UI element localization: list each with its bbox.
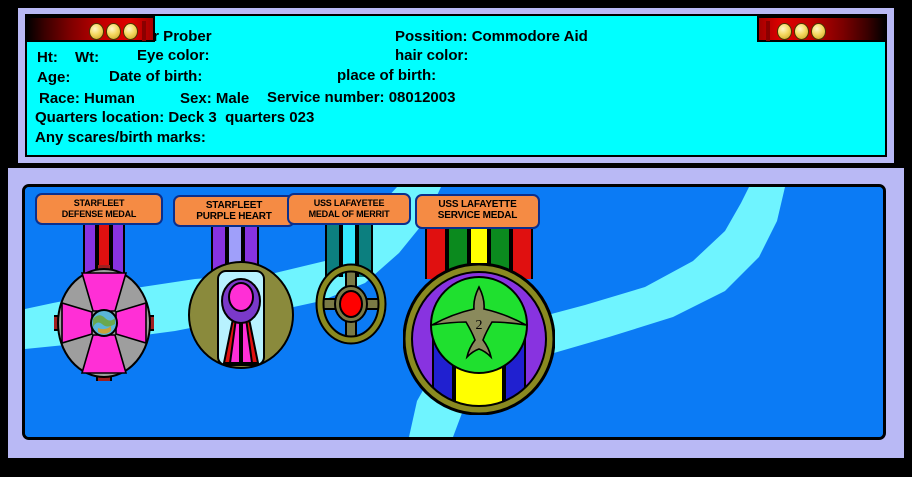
field-label: Possition: (395, 28, 468, 45)
medal-oval-inner (229, 283, 253, 311)
field-value: Human (84, 90, 135, 107)
field-value: Deck 3 quarters 023 (168, 109, 314, 126)
field-ht: Ht: (37, 49, 58, 66)
medal-label-line1: STARFLEET (182, 200, 286, 211)
lamp-icon (123, 23, 138, 40)
medal-label-line2: DEFENSE MEDAL (44, 209, 154, 220)
lamp-icon (794, 23, 809, 40)
field-date-of-birth: Date of birth: (109, 68, 202, 85)
record-screen: Name: Alexander ProberPossition: Commodo… (0, 0, 912, 477)
medal-label-line1: USS LAFAYETTE (424, 199, 531, 210)
field-wt: Wt: (75, 49, 99, 66)
field-service-number: Service number: 08012003 (267, 89, 455, 106)
field-label: Eye color: (137, 47, 210, 64)
field-value: Male (216, 90, 249, 107)
field-label: Quarters location: (35, 109, 164, 126)
lamp-icon (89, 23, 104, 40)
field-hair-color: hair color: (395, 47, 468, 64)
field-sex: Sex: Male (180, 90, 249, 107)
medal-disc-starfleet-defense-medal[interactable] (54, 265, 154, 381)
field-label: Race: (39, 90, 80, 107)
field-label: Wt: (75, 49, 99, 66)
medal-ray-split (239, 321, 243, 363)
field-age: Age: (37, 69, 70, 86)
field-possition: Possition: Commodore Aid (395, 28, 588, 45)
field-label: Date of birth: (109, 68, 202, 85)
medal-inner-art: 2 (431, 277, 527, 415)
medal-label-line2: MEDAL OF MERRIT (296, 209, 402, 220)
medal-label-starfleet-purple-heart[interactable]: STARFLEETPURPLE HEART (173, 195, 295, 227)
medal-label-line2: PURPLE HEART (182, 211, 286, 222)
medal-label-line2: SERVICE MEDAL (424, 210, 531, 221)
lamp-icon (106, 23, 121, 40)
medals-panel: STARFLEETDEFENSE MEDALSTARFLEETPURPLE HE… (22, 184, 886, 440)
field-race: Race: Human (39, 90, 135, 107)
decor-tick-right (766, 21, 770, 41)
medal-disc-uss-lafayetee-medal-of-merrit[interactable] (315, 263, 387, 345)
field-label: Sex: (180, 90, 212, 107)
field-any-scares-birth-marks: Any scares/birth marks: (35, 129, 206, 146)
field-label: Service number: (267, 89, 385, 106)
field-value: 08012003 (389, 89, 456, 106)
header-decor-left (25, 16, 155, 42)
medal-disc-starfleet-purple-heart[interactable] (186, 259, 296, 371)
field-eye-color: Eye color: (137, 47, 210, 64)
medal-label-line1: STARFLEET (44, 198, 154, 209)
field-label: Ht: (37, 49, 58, 66)
medal-label-uss-lafayetee-medal-of-merrit[interactable]: USS LAFAYETEEMEDAL OF MERRIT (287, 193, 411, 225)
field-label: hair color: (395, 47, 468, 64)
field-place-of-birth: place of birth: (337, 67, 436, 84)
medal-label-uss-lafayette-service-medal[interactable]: USS LAFAYETTESERVICE MEDAL (415, 194, 540, 229)
lamp-icon (777, 23, 792, 40)
field-label: Any scares/birth marks: (35, 129, 206, 146)
field-label: place of birth: (337, 67, 436, 84)
header-decor-right (757, 16, 887, 42)
medal-label-line1: USS LAFAYETEE (296, 198, 402, 209)
decor-tick-left (142, 21, 146, 41)
eagle-number: 2 (476, 318, 483, 333)
field-value: Commodore Aid (472, 28, 588, 45)
medal-disc-uss-lafayette-service-medal[interactable]: 2 (403, 263, 555, 415)
medal-label-starfleet-defense-medal[interactable]: STARFLEETDEFENSE MEDAL (35, 193, 163, 225)
field-quarters-location: Quarters location: Deck 3 quarters 023 (35, 109, 314, 126)
field-label: Age: (37, 69, 70, 86)
hub-center (340, 291, 362, 317)
lamp-icon (811, 23, 826, 40)
